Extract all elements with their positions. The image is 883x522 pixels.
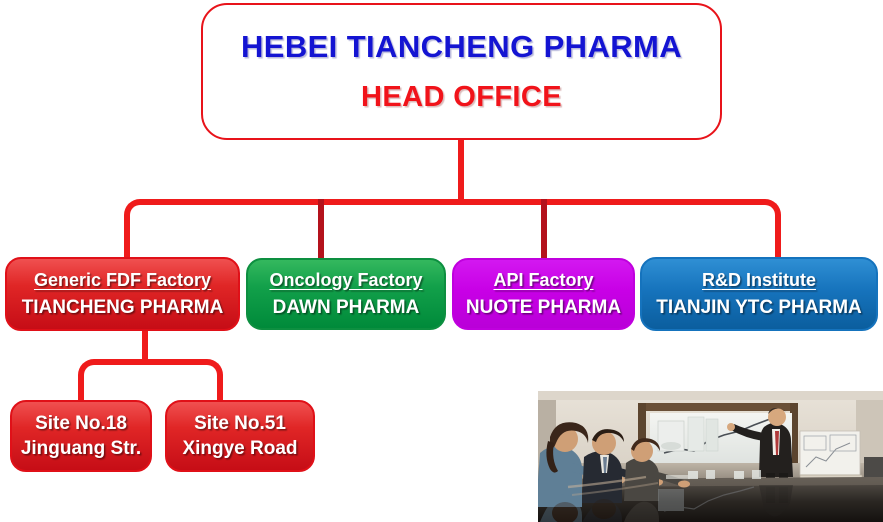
connector-generic-fdf-drop xyxy=(142,330,148,362)
division-subtitle: TIANCHENG PHARMA xyxy=(22,297,224,319)
site-address: Jinguang Str. xyxy=(21,438,141,460)
connector-site-bracket xyxy=(78,359,223,402)
business-meeting-photo xyxy=(538,391,883,522)
division-box-rd-institute[interactable]: R&D Institute TIANJIN YTC PHARMA xyxy=(640,257,878,331)
site-name: Site No.51 xyxy=(194,413,286,435)
division-title: Oncology Factory xyxy=(269,270,422,291)
head-office-box[interactable]: HEBEI TIANCHENG PHARMA HEAD OFFICE xyxy=(201,3,722,140)
site-box-no-18[interactable]: Site No.18 Jinguang Str. xyxy=(10,400,152,472)
connector-division-bracket xyxy=(124,199,781,259)
division-title: API Factory xyxy=(493,270,593,291)
site-address: Xingye Road xyxy=(182,438,297,460)
division-subtitle: DAWN PHARMA xyxy=(273,297,420,319)
meeting-photo-illustration xyxy=(538,391,883,522)
division-box-oncology-factory[interactable]: Oncology Factory DAWN PHARMA xyxy=(246,258,446,330)
head-office-label: HEAD OFFICE xyxy=(361,81,562,114)
connector-stub-oncology xyxy=(318,199,324,261)
division-subtitle: NUOTE PHARMA xyxy=(466,297,621,319)
connector-stub-api xyxy=(541,199,547,261)
org-chart-canvas: HEBEI TIANCHENG PHARMA HEAD OFFICE Gener… xyxy=(0,0,883,522)
head-office-company-name: HEBEI TIANCHENG PHARMA xyxy=(241,29,682,65)
site-box-no-51[interactable]: Site No.51 Xingye Road xyxy=(165,400,315,472)
site-name: Site No.18 xyxy=(35,413,127,435)
division-subtitle: TIANJIN YTC PHARMA xyxy=(656,297,862,319)
division-title: R&D Institute xyxy=(702,270,816,291)
connector-head-office-drop xyxy=(458,140,464,202)
division-box-api-factory[interactable]: API Factory NUOTE PHARMA xyxy=(452,258,635,330)
division-title: Generic FDF Factory xyxy=(34,270,211,291)
division-box-generic-fdf-factory[interactable]: Generic FDF Factory TIANCHENG PHARMA xyxy=(5,257,240,331)
